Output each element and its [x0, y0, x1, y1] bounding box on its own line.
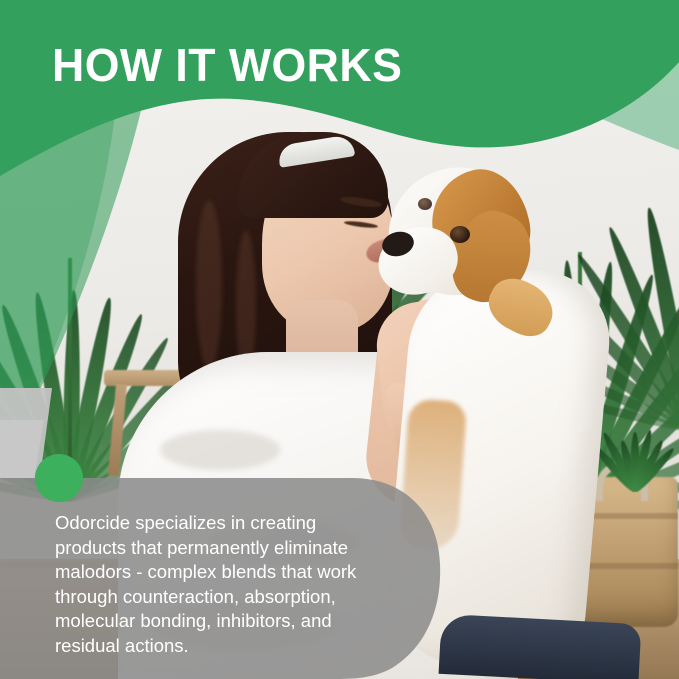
body-paragraph: Odorcide specializes in creating product… — [55, 511, 385, 658]
page-title: HOW IT WORKS — [52, 42, 402, 88]
poster-canvas: HOW IT WORKS Odorcide specializes in cre… — [0, 0, 679, 679]
green-accent-circle — [35, 454, 83, 502]
